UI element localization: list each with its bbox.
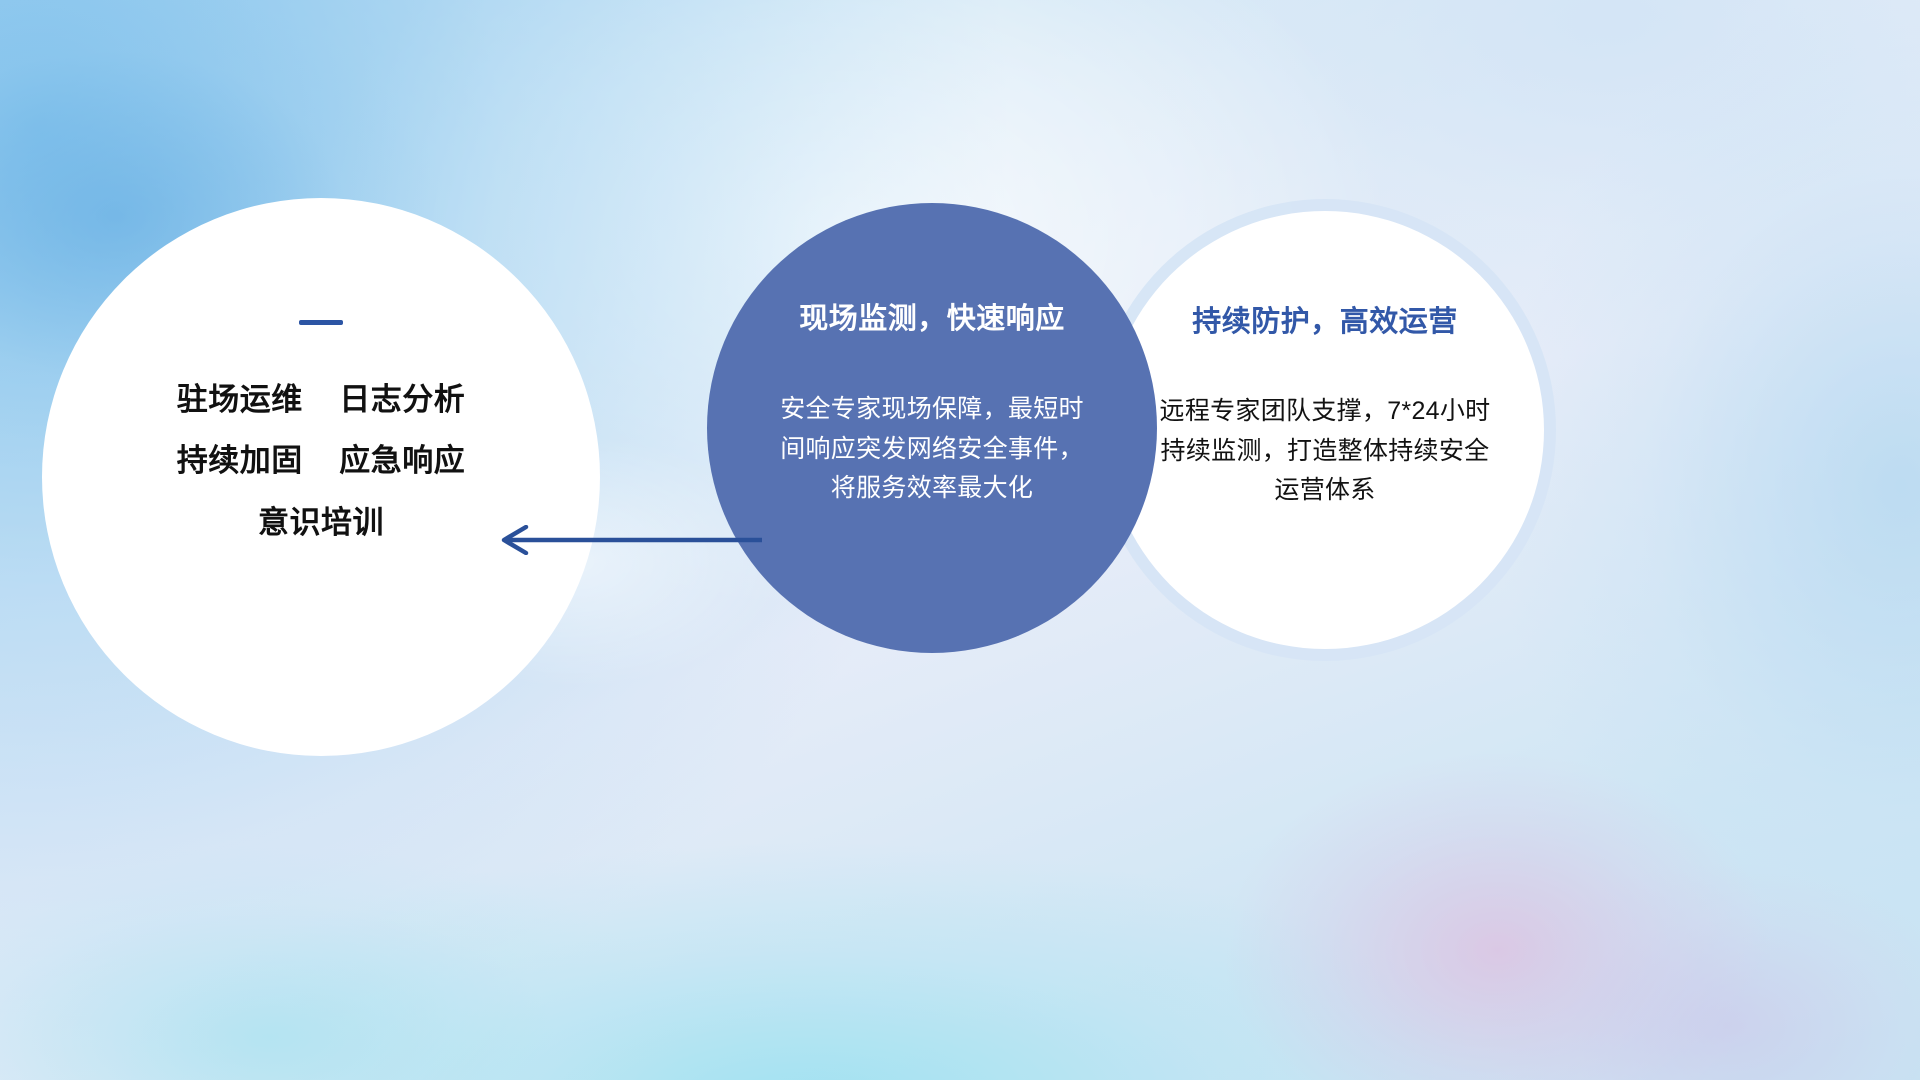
capabilities-circle[interactable]: 驻场运维 日志分析 持续加固 应急响应 意识培训 <box>42 198 600 756</box>
continuous-protection-circle[interactable]: 持续防护，高效运营 远程专家团队支撑，7*24小时持续监测，打造整体持续安全运营… <box>1106 211 1544 649</box>
onsite-monitoring-body: 安全专家现场保障，最短时间响应突发网络安全事件，将服务效率最大化 <box>776 390 1088 509</box>
divider-rule <box>299 320 343 325</box>
capabilities-list: 驻场运维 日志分析 持续加固 应急响应 意识培训 <box>177 369 465 553</box>
continuous-protection-body: 远程专家团队支撑，7*24小时持续监测，打造整体持续安全运营体系 <box>1149 392 1501 511</box>
diagram-stage: 驻场运维 日志分析 持续加固 应急响应 意识培训 现场监测，快速响应 安全专家现… <box>0 0 1920 1080</box>
capabilities-line-3: 意识培训 <box>177 492 465 553</box>
continuous-protection-title: 持续防护，高效运营 <box>1192 298 1458 340</box>
capabilities-line-1: 驻场运维 日志分析 <box>177 369 465 430</box>
capabilities-line-2: 持续加固 应急响应 <box>177 430 465 491</box>
onsite-monitoring-circle[interactable]: 现场监测，快速响应 安全专家现场保障，最短时间响应突发网络安全事件，将服务效率最… <box>707 203 1157 653</box>
onsite-monitoring-title: 现场监测，快速响应 <box>799 295 1065 337</box>
